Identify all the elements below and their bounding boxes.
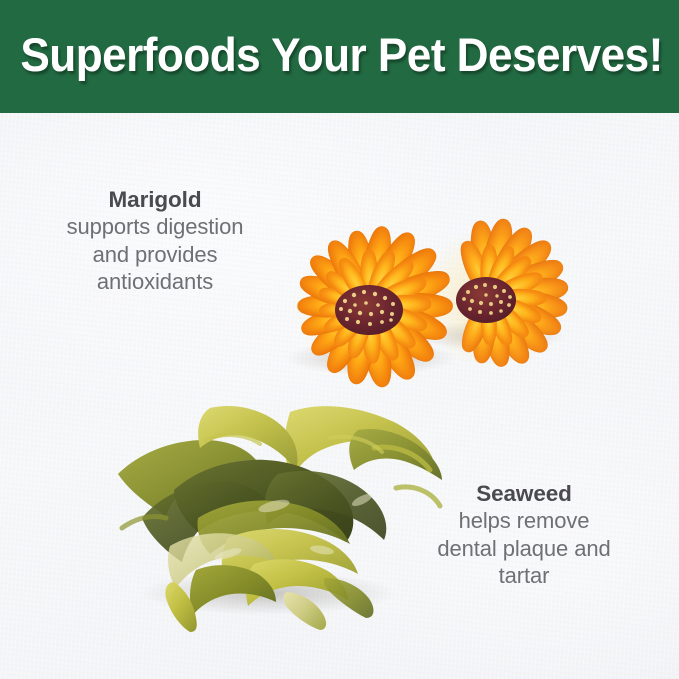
callout-marigold: Marigold supports digestion and provides… xyxy=(24,186,286,296)
callout-marigold-heading: Marigold xyxy=(24,186,286,213)
callout-seaweed-line-1: helps remove xyxy=(398,507,650,535)
callout-seaweed: Seaweed helps remove dental plaque and t… xyxy=(398,480,650,590)
marigold-flower-image xyxy=(245,186,585,391)
callout-marigold-line-1: supports digestion xyxy=(24,213,286,241)
banner-title: Superfoods Your Pet Deserves! xyxy=(20,27,658,83)
seaweed-image xyxy=(78,378,453,633)
callout-marigold-line-2: and provides xyxy=(24,241,286,269)
callout-seaweed-line-3: tartar xyxy=(398,562,650,590)
callout-seaweed-line-2: dental plaque and xyxy=(398,535,650,563)
callout-marigold-line-3: antioxidants xyxy=(24,268,286,296)
callout-seaweed-heading: Seaweed xyxy=(398,480,650,507)
header-banner: Superfoods Your Pet Deserves! xyxy=(0,0,679,113)
infographic-canvas: Superfoods Your Pet Deserves! xyxy=(0,0,679,679)
